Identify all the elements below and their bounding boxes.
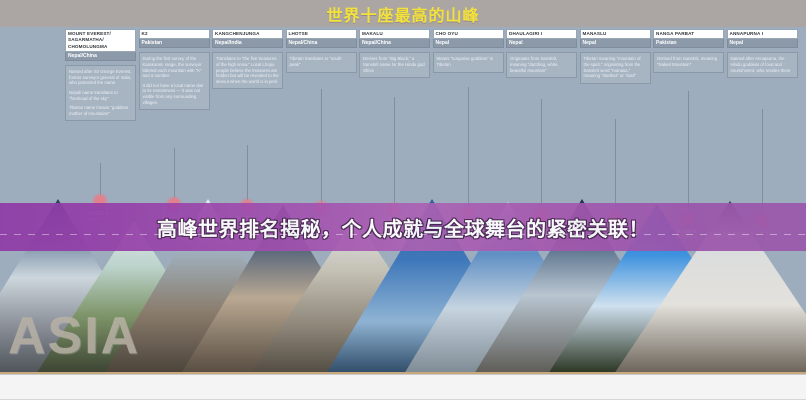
- peak-connector-line: [174, 148, 175, 204]
- peak-note: Named after Sir George Everest, former s…: [69, 69, 132, 86]
- peak-notes: Derives from "Big Black," a Sanskrit nam…: [359, 52, 430, 78]
- peak-note: Named after Annapurna, the Hindu goddess…: [731, 56, 794, 73]
- peak-name: MANASLU: [580, 29, 651, 39]
- peak-card[interactable]: ANNAPURNA INepalNamed after Annapurna, t…: [727, 29, 798, 78]
- peak-card-strip: MOUNT EVEREST/SAGARMATHA/CHOMOLUNGMANepa…: [0, 27, 806, 177]
- peak-name: CHO OYU: [433, 29, 504, 39]
- peak-notes: During the first survey of the Karakoram…: [139, 52, 210, 110]
- promo-overlay-text: 高峰世界排名揭秘，个人成就与全球舞台的紧密关联！: [157, 213, 649, 242]
- peak-notes: Named after Sir George Everest, former s…: [65, 65, 136, 121]
- peak-country: Nepal/India: [212, 39, 283, 48]
- peak-name-line: KANGCHENJUNGA: [215, 31, 280, 37]
- infographic-page: 世界十座最高的山峰: [0, 0, 806, 400]
- peak-country: Nepal: [727, 39, 798, 48]
- peak-connector-line: [247, 145, 248, 206]
- peak-notes: Originates from Sanskrit, meaning "dazzl…: [506, 52, 577, 78]
- peak-notes: Tibetan translates to "south peak": [286, 52, 357, 72]
- peak-note: Tibetan name means "goddess mother of mo…: [69, 105, 132, 116]
- peak-name: LHOTSE: [286, 29, 357, 39]
- peak-note: Derives from "Big Black," a Sanskrit nam…: [363, 56, 426, 73]
- peak-card[interactable]: MANASLUNepalTibetan meaning "mountain of…: [580, 29, 651, 84]
- peak-country: Nepal: [506, 39, 577, 48]
- peak-note: It did not have a local name due to its …: [143, 83, 206, 105]
- peak-connector-line: [541, 99, 542, 215]
- peak-name: K2: [139, 29, 210, 39]
- peak-name-line: CHO OYU: [436, 31, 501, 37]
- peak-connector-line: [468, 87, 469, 213]
- peak-name: DHAULAGIRI I: [506, 29, 577, 39]
- peak-card[interactable]: LHOTSENepal/ChinaTibetan translates to "…: [286, 29, 357, 73]
- peak-card[interactable]: NANGA PARBATPakistanDerived from Sanskri…: [653, 29, 724, 73]
- peak-note: During the first survey of the Karakoram…: [143, 56, 206, 78]
- peak-name-line: LHOTSE: [289, 31, 354, 37]
- peak-card[interactable]: K2PakistanDuring the first survey of the…: [139, 29, 210, 110]
- peak-notes: Named after Annapurna, the Hindu goddess…: [727, 52, 798, 78]
- banner-dashed-rule: [0, 234, 806, 235]
- peak-note: Nepali name translates to "forehead of t…: [69, 90, 132, 101]
- peak-card[interactable]: DHAULAGIRI INepalOriginates from Sanskri…: [506, 29, 577, 78]
- peak-name-line: CHOMOLUNGMA: [68, 44, 133, 50]
- page-bottom-strip: [0, 374, 806, 400]
- peak-card[interactable]: MOUNT EVEREST/SAGARMATHA/CHOMOLUNGMANepa…: [65, 29, 136, 121]
- page-title: 世界十座最高的山峰: [326, 2, 479, 26]
- peak-name: MOUNT EVEREST/SAGARMATHA/CHOMOLUNGMA: [65, 29, 136, 52]
- peak-card[interactable]: CHO OYUNepalMeans "turquoise goddess" in…: [433, 29, 504, 73]
- peak-country: Nepal/China: [65, 52, 136, 61]
- region-label-asia: ASIA: [8, 306, 140, 366]
- peak-note: Translates to "the five treasures of the…: [216, 56, 279, 84]
- peak-name-line: ANNAPURNA I: [730, 31, 795, 37]
- peak-note: Tibetan translates to "south peak": [290, 56, 353, 67]
- peak-note: Derived from Sanskrit, meaning "Naked Mo…: [657, 56, 720, 67]
- infographic-canvas: ASIA MOUNT EVEREST/SAGARMATHA/CHOMOLUNGM…: [0, 27, 806, 374]
- peak-note: Originates from Sanskrit, meaning "dazzl…: [510, 56, 573, 73]
- peak-name-line: K2: [142, 31, 207, 37]
- promo-overlay-banner: 高峰世界排名揭秘，个人成就与全球舞台的紧密关联！: [0, 203, 806, 251]
- peak-note: Tibetan meaning "mountain of the spirit,…: [584, 56, 647, 78]
- peak-name-line: MAKALU: [362, 31, 427, 37]
- peak-card[interactable]: KANGCHENJUNGANepal/IndiaTranslates to "t…: [212, 29, 283, 89]
- peak-name-line: NANGA PARBAT: [656, 31, 721, 37]
- peak-name: MAKALU: [359, 29, 430, 39]
- peak-name: NANGA PARBAT: [653, 29, 724, 39]
- peak-country: Nepal/China: [359, 39, 430, 48]
- peak-name-line: MANASLU: [583, 31, 648, 37]
- peak-country: Nepal: [433, 39, 504, 48]
- peak-name: KANGCHENJUNGA: [212, 29, 283, 39]
- peak-note: Means "turquoise goddess" in Tibetan: [437, 56, 500, 67]
- peak-connector-line: [394, 97, 395, 210]
- peak-card[interactable]: MAKALUNepal/ChinaDerives from "Big Black…: [359, 29, 430, 78]
- peak-country: Nepal: [580, 39, 651, 48]
- peak-country: Pakistan: [139, 39, 210, 48]
- peak-country: Pakistan: [653, 39, 724, 48]
- peak-notes: Translates to "the five treasures of the…: [212, 52, 283, 89]
- peak-notes: Tibetan meaning "mountain of the spirit,…: [580, 52, 651, 83]
- peak-name: ANNAPURNA I: [727, 29, 798, 39]
- peak-notes: Means "turquoise goddess" in Tibetan: [433, 52, 504, 72]
- peak-country: Nepal/China: [286, 39, 357, 48]
- peak-connector-line: [321, 89, 322, 208]
- peak-notes: Derived from Sanskrit, meaning "Naked Mo…: [653, 52, 724, 72]
- peak-name-line: DHAULAGIRI I: [509, 31, 574, 37]
- page-title-bar: 世界十座最高的山峰: [0, 0, 806, 27]
